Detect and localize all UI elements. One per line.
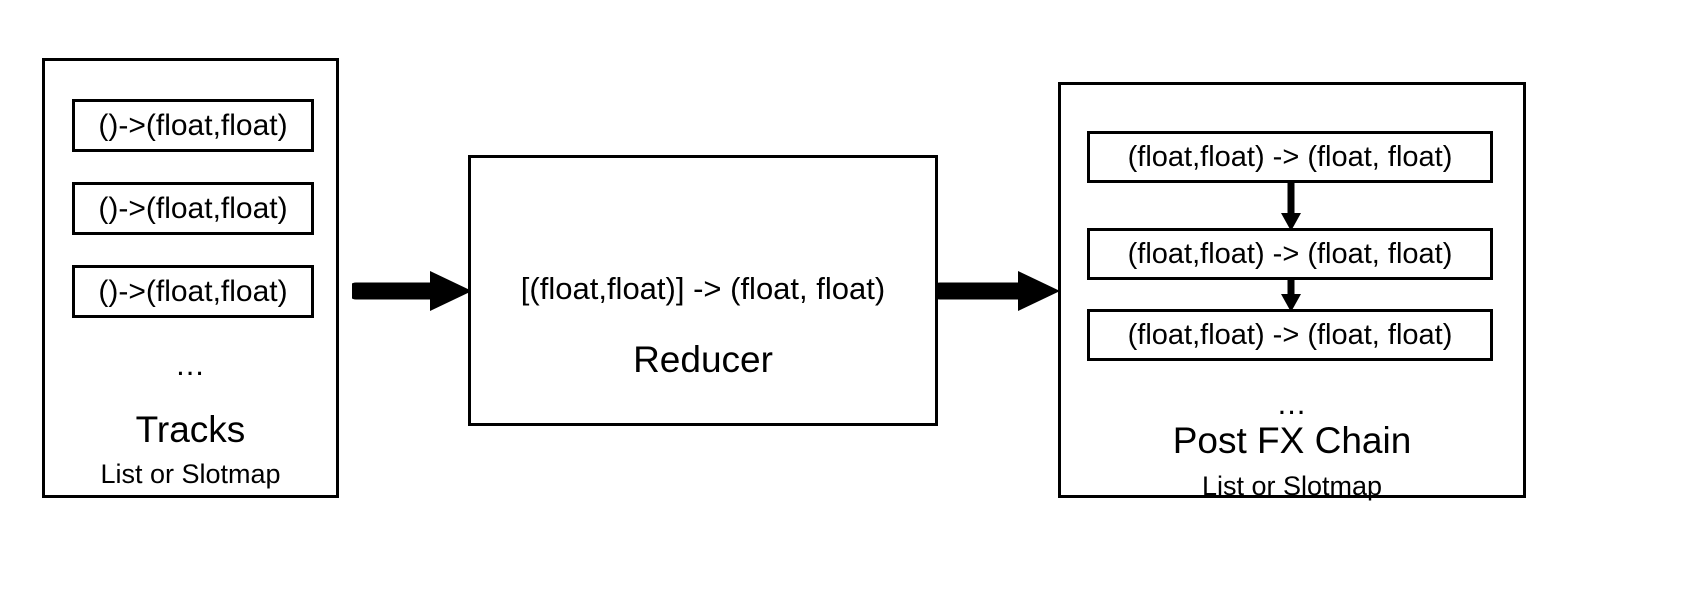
tracks-caption: List or Slotmap (45, 461, 336, 488)
fx-item[interactable]: (float,float) -> (float, float) (1087, 228, 1493, 280)
tracks-to-reducer-arrow (352, 265, 474, 317)
fx-item-label: (float,float) -> (float, float) (1128, 143, 1453, 172)
post-fx-chain-container: (float,float) -> (float, float) (float,f… (1058, 82, 1526, 498)
fx-chain-arrow (1276, 181, 1306, 231)
pipeline-diagram: ()->(float,float) ()->(float,float) ()->… (0, 0, 1694, 600)
track-item[interactable]: ()->(float,float) (72, 265, 314, 318)
fx-item-label: (float,float) -> (float, float) (1128, 321, 1453, 350)
tracks-ellipsis: ... (45, 349, 336, 380)
fx-item-label: (float,float) -> (float, float) (1128, 240, 1453, 269)
track-item[interactable]: ()->(float,float) (72, 182, 314, 235)
reducer-to-postfx-arrow (936, 265, 1062, 317)
tracks-container: ()->(float,float) ()->(float,float) ()->… (42, 58, 339, 498)
track-item[interactable]: ()->(float,float) (72, 99, 314, 152)
reducer-signature: [(float,float)] -> (float, float) (471, 273, 935, 304)
fx-chain-arrow (1276, 278, 1306, 312)
track-item-label: ()->(float,float) (98, 277, 287, 307)
reducer-container: [(float,float)] -> (float, float) Reduce… (468, 155, 938, 426)
post-fx-ellipsis: ... (1061, 388, 1523, 419)
track-item-label: ()->(float,float) (98, 111, 287, 141)
fx-item[interactable]: (float,float) -> (float, float) (1087, 131, 1493, 183)
fx-item[interactable]: (float,float) -> (float, float) (1087, 309, 1493, 361)
post-fx-caption: List or Slotmap (1061, 473, 1523, 500)
track-item-label: ()->(float,float) (98, 194, 287, 224)
post-fx-title: Post FX Chain (1061, 422, 1523, 459)
reducer-title: Reducer (471, 341, 935, 378)
tracks-title: Tracks (45, 411, 336, 448)
